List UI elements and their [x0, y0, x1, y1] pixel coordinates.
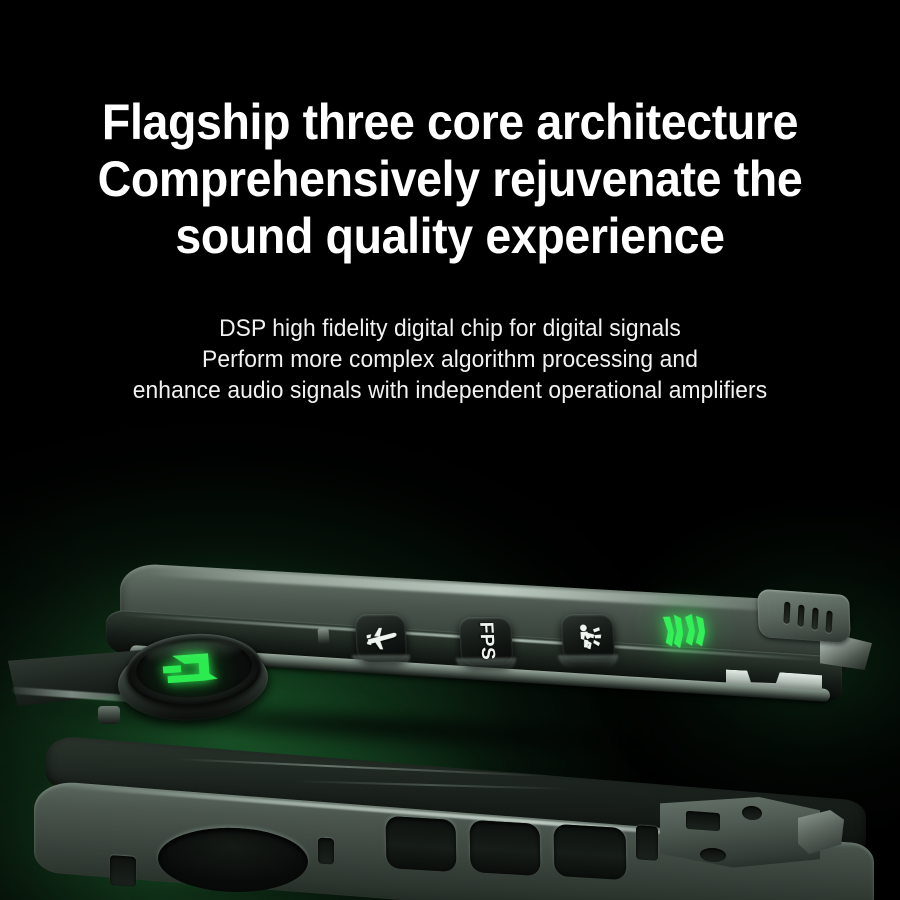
- subtitle-line-3: enhance audio signals with independent o…: [23, 375, 878, 406]
- vent-slot-3: [811, 607, 818, 630]
- banner-stage: Flagship three core architecture Compreh…: [0, 0, 900, 900]
- headline-line-1: Flagship three core architecture: [32, 94, 869, 151]
- button-cutout-1: [386, 816, 457, 872]
- vent-slot-4: [826, 610, 833, 633]
- button-cutout-3: [554, 824, 627, 880]
- headline-line-2: Comprehensively rejuvenate the: [32, 151, 869, 208]
- vent-slot-2: [797, 604, 804, 627]
- mode-button-fps-label: FPS: [474, 622, 498, 661]
- running-figure-icon: [569, 621, 607, 655]
- mode-button-airplane[interactable]: [355, 614, 408, 662]
- mode-button-fps[interactable]: FPS: [459, 617, 514, 665]
- small-cutout-3: [636, 825, 658, 861]
- subtitle-line-2: Perform more complex algorithm processin…: [23, 344, 878, 375]
- mode-button-moba[interactable]: [561, 614, 616, 662]
- small-cutout-2: [318, 837, 334, 864]
- text-block: Flagship three core architecture Compreh…: [0, 0, 900, 406]
- vent-slot-1: [783, 601, 790, 624]
- upper-shell-foot: [98, 706, 120, 724]
- headline-line-3: sound quality experience: [32, 208, 869, 265]
- headline: Flagship three core architecture Compreh…: [32, 94, 869, 265]
- lower-shell-notch-2: [742, 806, 762, 821]
- subtitle-line-1: DSP high fidelity digital chip for digit…: [23, 313, 878, 344]
- small-cutout-1: [110, 855, 136, 887]
- lower-shell-notch-1: [686, 811, 720, 831]
- airplane-icon: [362, 621, 399, 655]
- brand-glow-mark: [657, 611, 718, 653]
- button-cutout-2: [470, 820, 541, 876]
- vent-grille: [757, 589, 851, 644]
- subtitle: DSP high fidelity digital chip for digit…: [23, 313, 878, 406]
- side-switch[interactable]: [317, 628, 329, 645]
